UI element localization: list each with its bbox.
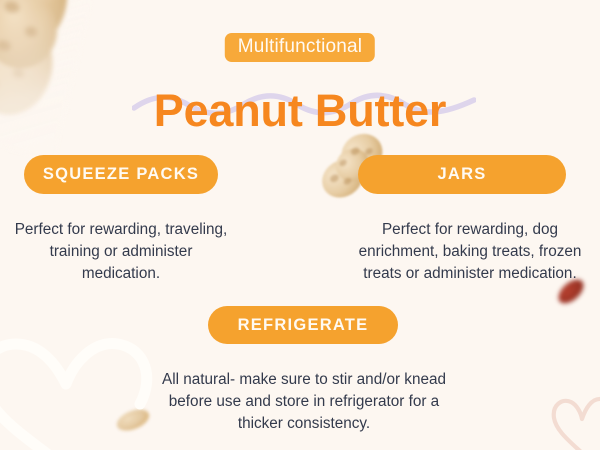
poster-canvas: Multifunctional Peanut Butter SQUEEZE PA… bbox=[0, 0, 600, 450]
subtitle-badge: Multifunctional bbox=[225, 33, 375, 62]
description-squeeze-packs: Perfect for rewarding, traveling, traini… bbox=[14, 219, 228, 284]
pill-jars[interactable]: JARS bbox=[358, 155, 566, 194]
description-jars: Perfect for rewarding, dog enrichment, b… bbox=[353, 219, 587, 284]
pill-refrigerate[interactable]: REFRIGERATE bbox=[208, 306, 398, 344]
heart-outline-icon-bottom-left bbox=[0, 328, 154, 450]
heart-outline-icon-bottom-right bbox=[548, 392, 600, 450]
peanut-half-icon-bottom-left bbox=[114, 405, 152, 434]
page-title: Peanut Butter bbox=[0, 87, 600, 134]
description-refrigerate: All natural- make sure to stir and/or kn… bbox=[158, 369, 450, 434]
pill-squeeze-packs[interactable]: SQUEEZE PACKS bbox=[24, 155, 218, 194]
